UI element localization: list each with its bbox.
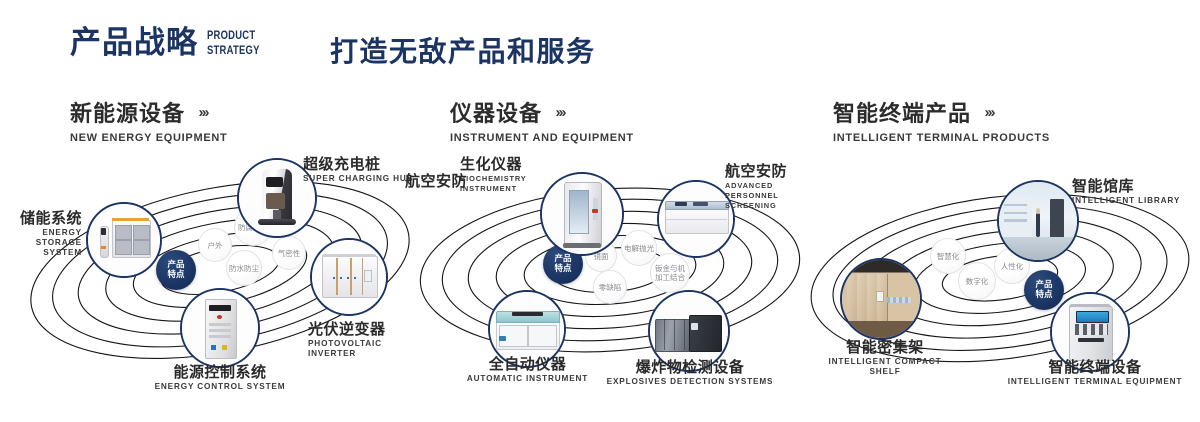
page-title-english: PRODUCT STRATEGY xyxy=(198,31,271,60)
energy-storage-system-photo xyxy=(88,204,160,276)
chevron-triple-icon: ››› xyxy=(984,104,993,121)
page-title: 产品战略 xyxy=(70,26,198,60)
feature-bubble: 零缺陷 xyxy=(593,270,627,304)
label-photovoltaic-inverter: 光伏逆变器 PHOTOVOLTAIC INVERTER xyxy=(308,320,420,359)
node-advanced-personnel-screening[interactable] xyxy=(657,180,735,258)
feature-bubble: 数字化 xyxy=(958,262,996,300)
feature-bubble: 防水防尘 xyxy=(226,250,262,286)
label-aviation-security-side: 航空安防 xyxy=(405,172,467,190)
photovoltaic-inverter-photo xyxy=(312,240,386,314)
label-super-charging-hub: 超级充电桩 SUPER CHARGING HUB xyxy=(303,155,413,184)
cluster-new-energy: 产品 特点 户外 防腐防锈 气密性 防水防尘 超级充电桩 SUPER CHARG… xyxy=(20,150,420,415)
node-energy-storage-system[interactable] xyxy=(86,202,162,278)
center-bubble-product-features: 产品 特点 xyxy=(156,250,196,290)
section-title-intelligent-terminal: 智能终端产品 ››› INTELLIGENT TERMINAL PRODUCTS xyxy=(833,96,1050,144)
advanced-personnel-screening-photo xyxy=(659,182,733,256)
label-intelligent-terminal-equipment: 智能终端设备 INTELLIGENT TERMINAL EQUIPMENT xyxy=(990,358,1200,387)
node-intelligent-compact-shelf[interactable] xyxy=(840,258,922,340)
cluster-instrument: 产品 特点 镜面 电解抛光 钣金与机加工结合 零缺陷 生化仪器 BIOCHEMI… xyxy=(415,150,815,415)
label-energy-storage-system: 储能系统 ENERGY STORAGE SYSTEM xyxy=(0,209,82,258)
node-photovoltaic-inverter[interactable] xyxy=(310,238,388,316)
feature-bubble: 户外 xyxy=(198,228,232,262)
chevron-triple-icon: ››› xyxy=(555,104,564,121)
chevron-triple-icon: ››› xyxy=(198,104,207,121)
cluster-intelligent-terminal: 智慧化 数字化 人性化 产品 特点 智能馆库 INTELLIGEN xyxy=(800,150,1200,415)
section-title-new-energy: 新能源设备 ››› NEW ENERGY EQUIPMENT xyxy=(70,96,227,144)
feature-bubble: 钣金与机加工结合 xyxy=(650,253,690,293)
energy-control-system-photo xyxy=(182,290,258,366)
intelligent-library-photo xyxy=(999,182,1077,260)
biochemistry-instrument-photo xyxy=(542,174,622,254)
section-title-en: INTELLIGENT TERMINAL PRODUCTS xyxy=(833,132,1050,144)
intelligent-compact-shelf-photo xyxy=(842,260,920,338)
section-title-cn: 新能源设备 xyxy=(70,96,185,128)
section-title-instrument: 仪器设备 ››› INSTRUMENT AND EQUIPMENT xyxy=(450,96,634,144)
section-title-cn: 智能终端产品 xyxy=(833,96,971,128)
label-explosives-detection-systems: 爆炸物检测设备 EXPLOSIVES DETECTION SYSTEMS xyxy=(575,358,805,387)
page-header: 产品战略 PRODUCT STRATEGY xyxy=(70,26,271,60)
feature-bubble: 气密性 xyxy=(272,236,306,270)
label-intelligent-library: 智能馆库 INTELLIGENT LIBRARY xyxy=(1072,177,1180,206)
page-slogan: 打造无敌产品和服务 xyxy=(330,30,596,70)
node-biochemistry-instrument[interactable] xyxy=(540,172,624,256)
node-energy-control-system[interactable] xyxy=(180,288,260,368)
section-title-en: NEW ENERGY EQUIPMENT xyxy=(70,132,227,144)
feature-bubble: 电解抛光 xyxy=(621,230,657,266)
section-title-en: INSTRUMENT AND EQUIPMENT xyxy=(450,132,634,144)
product-strategy-infographic: 产品战略 PRODUCT STRATEGY 打造无敌产品和服务 新能源设备 ››… xyxy=(0,0,1200,422)
label-biochemistry-instrument: 生化仪器 BIOCHEMISTRY INSTRUMENT xyxy=(460,155,550,194)
label-energy-control-system: 能源控制系统 ENERGY CONTROL SYSTEM xyxy=(80,363,360,392)
node-intelligent-library[interactable] xyxy=(997,180,1079,262)
feature-bubble: 智慧化 xyxy=(930,238,966,274)
section-title-cn: 仪器设备 xyxy=(450,96,542,128)
label-intelligent-compact-shelf: 智能密集架 INTELLIGENT COMPACT SHELF xyxy=(790,338,980,377)
